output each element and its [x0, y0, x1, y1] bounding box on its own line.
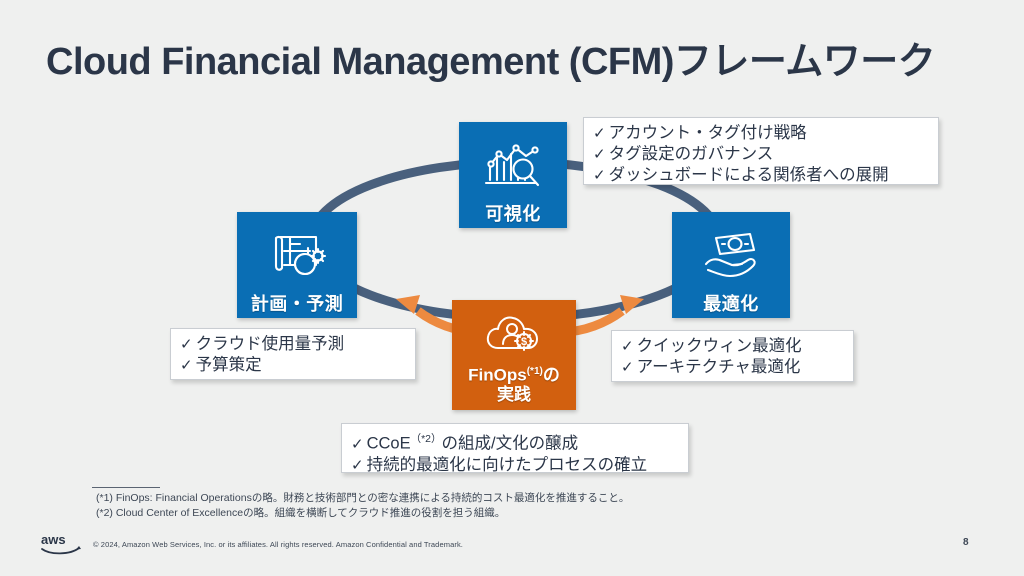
footnote-1: (*1) FinOps: Financial Operationsの略。財務と技… [96, 491, 629, 506]
finops-label-footnote: (*1) [527, 366, 543, 377]
callout-plan-line-1: ✓クラウド使用量予測 [180, 334, 405, 355]
callout-plan-line-2: ✓予算策定 [180, 355, 405, 376]
aws-logo: aws [40, 533, 82, 557]
finops-label-line2: 実践 [497, 385, 531, 404]
check-icon: ✓ [621, 359, 634, 376]
finops-label-line1: FinOps [468, 366, 527, 385]
pillar-visualize[interactable]: 可視化 [459, 122, 567, 228]
callout-optimize-line-1: ✓クイックウィン最適化 [621, 336, 843, 357]
footnote-divider [92, 487, 160, 488]
check-icon: ✓ [621, 338, 634, 355]
blueprint-gear-icon [264, 226, 330, 282]
check-icon: ✓ [180, 357, 193, 374]
finops-label: FinOps(*1)の 実践 [468, 362, 560, 404]
footnotes: (*1) FinOps: Financial Operationsの略。財務と技… [96, 491, 629, 521]
check-icon: ✓ [593, 125, 606, 142]
finops-center-box[interactable]: $ FinOps(*1)の 実践 [452, 300, 576, 410]
check-icon: ✓ [593, 167, 606, 184]
callout-visualize-line-3: ✓ダッシュボードによる関係者への展開 [593, 165, 928, 186]
pillar-plan-label: 計画・予測 [251, 290, 344, 316]
callout-visualize-line-1: ✓アカウント・タグ付け戦略 [593, 123, 928, 144]
check-icon: ✓ [351, 457, 364, 474]
callout-plan: ✓クラウド使用量予測 ✓予算策定 [170, 328, 416, 380]
pillar-optimize[interactable]: 最適化 [672, 212, 790, 318]
pillar-plan[interactable]: 計画・予測 [237, 212, 357, 318]
cloud-person-gear-dollar-icon: $ [484, 310, 544, 356]
callout-visualize-line-2: ✓タグ設定のガバナンス [593, 144, 928, 165]
callout-finops-line-2: ✓持続的最適化に向けたプロセスの確立 [351, 455, 678, 476]
check-icon: ✓ [351, 436, 364, 453]
page-title: Cloud Financial Management (CFM)フレームワーク [46, 30, 935, 85]
pillar-optimize-label: 最適化 [703, 290, 759, 316]
check-icon: ✓ [180, 336, 193, 353]
copyright-text: © 2024, Amazon Web Services, Inc. or its… [93, 540, 463, 549]
bar-chart-magnifier-icon [480, 136, 546, 192]
callout-optimize: ✓クイックウィン最適化 ✓アーキテクチャ最適化 [611, 330, 854, 382]
check-icon: ✓ [593, 146, 606, 163]
hand-money-icon [698, 226, 764, 282]
callout-finops: ✓CCoE（*2）の組成/文化の醸成 ✓持続的最適化に向けたプロセスの確立 [341, 423, 689, 473]
callout-visualize: ✓アカウント・タグ付け戦略 ✓タグ設定のガバナンス ✓ダッシュボードによる関係者… [583, 117, 939, 185]
callout-finops-line-1: ✓CCoE（*2）の組成/文化の醸成 [351, 429, 678, 455]
slide-canvas: Cloud Financial Management (CFM)フレームワーク [0, 0, 1024, 576]
callout-optimize-line-2: ✓アーキテクチャ最適化 [621, 357, 843, 378]
finops-label-suffix: の [543, 366, 560, 385]
page-number: 8 [963, 537, 969, 548]
footnote-2: (*2) Cloud Center of Excellenceの略。組織を横断し… [96, 506, 629, 521]
svg-text:aws: aws [41, 533, 66, 547]
svg-text:$: $ [521, 336, 527, 348]
pillar-visualize-label: 可視化 [485, 200, 541, 226]
